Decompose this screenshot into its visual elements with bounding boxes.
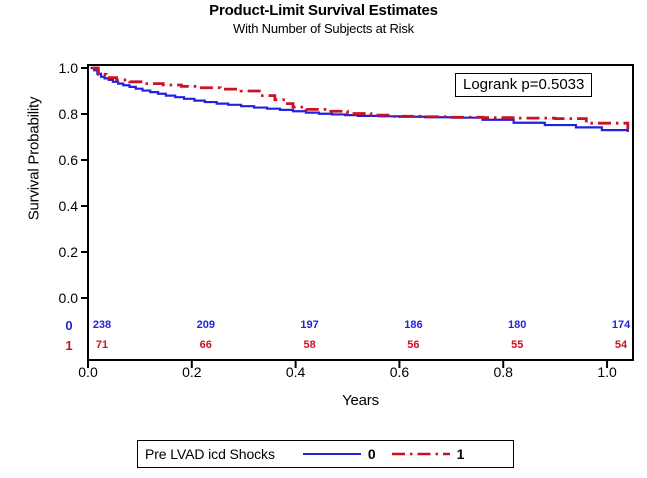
legend-label-1: 1 — [457, 446, 465, 462]
legend: Pre LVAD icd Shocks 0 1 — [137, 440, 514, 468]
logrank-annotation: Logrank p=0.5033 — [455, 73, 592, 97]
legend-line-solid-icon — [303, 448, 361, 460]
legend-title: Pre LVAD icd Shocks — [145, 446, 275, 462]
legend-label-0: 0 — [368, 446, 376, 462]
legend-entry-0: 0 — [303, 446, 376, 462]
plot-area — [0, 0, 647, 478]
legend-entry-1: 1 — [392, 446, 465, 462]
legend-line-dashdot-icon — [392, 448, 450, 460]
survival-chart-figure: Product-Limit Survival Estimates With Nu… — [0, 0, 647, 478]
